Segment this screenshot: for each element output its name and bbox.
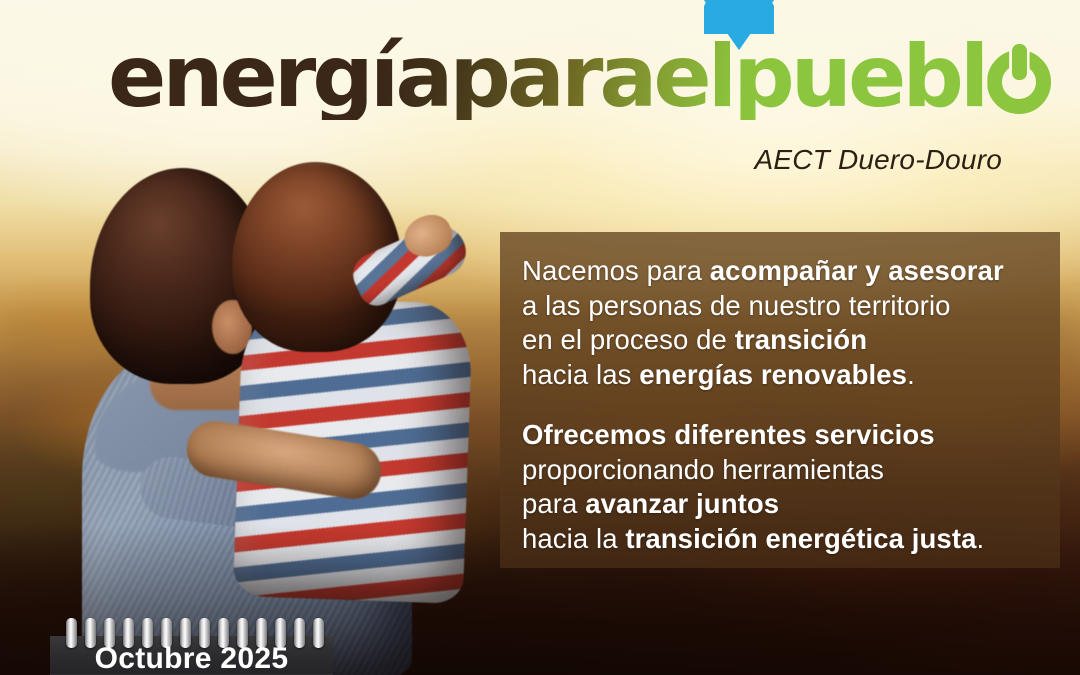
brand-logo: energíaparaelpuebl AECT Duero-Douro <box>108 34 1038 174</box>
logo-wordmark: energíaparaelpuebl <box>108 34 1038 120</box>
p2-l4-plain: hacia la <box>522 523 625 554</box>
p1-l1-plain: Nacemos para <box>522 255 710 286</box>
p2-l1-bold: Ofrecemos diferentes servicios <box>522 419 935 450</box>
p2-l2-plain: proporcionando herramientas <box>522 454 884 485</box>
p1-l3-plain: en el proceso de <box>522 324 735 355</box>
paragraph-2: Ofrecemos diferentes servicios proporcio… <box>522 418 1042 556</box>
message-panel: Nacemos para acompañar y asesorar a las … <box>500 232 1060 568</box>
p1-l1-bold: acompañar y asesorar <box>710 255 1004 286</box>
logo-tagline: AECT Duero-Douro <box>754 144 1002 176</box>
p2-l4-tail: . <box>976 523 984 554</box>
calendar-widget: Octubre 2025 <box>50 618 333 675</box>
p1-l4-tail: . <box>907 359 915 390</box>
logo-wordmark-text: energíaparaelpuebl <box>108 27 985 127</box>
p1-l2-plain: a las personas de nuestro territorio <box>522 290 951 321</box>
p1-l3-bold: transición <box>735 324 867 355</box>
p1-l4-bold: energías renovables <box>639 359 907 390</box>
p2-l3-plain: para <box>522 488 585 519</box>
p2-l3-bold: avanzar juntos <box>585 488 779 519</box>
calendar-month-label: Octubre 2025 <box>50 642 333 675</box>
power-button-icon <box>987 50 1051 114</box>
blue-triangle-marker-icon <box>704 0 774 50</box>
p2-l4-bold: transición energética justa <box>625 523 976 554</box>
paragraph-1: Nacemos para acompañar y asesorar a las … <box>522 254 1042 392</box>
p1-l4-plain: hacia las <box>522 359 639 390</box>
poster-root: energíaparaelpuebl AECT Duero-Douro Nace… <box>0 0 1080 675</box>
